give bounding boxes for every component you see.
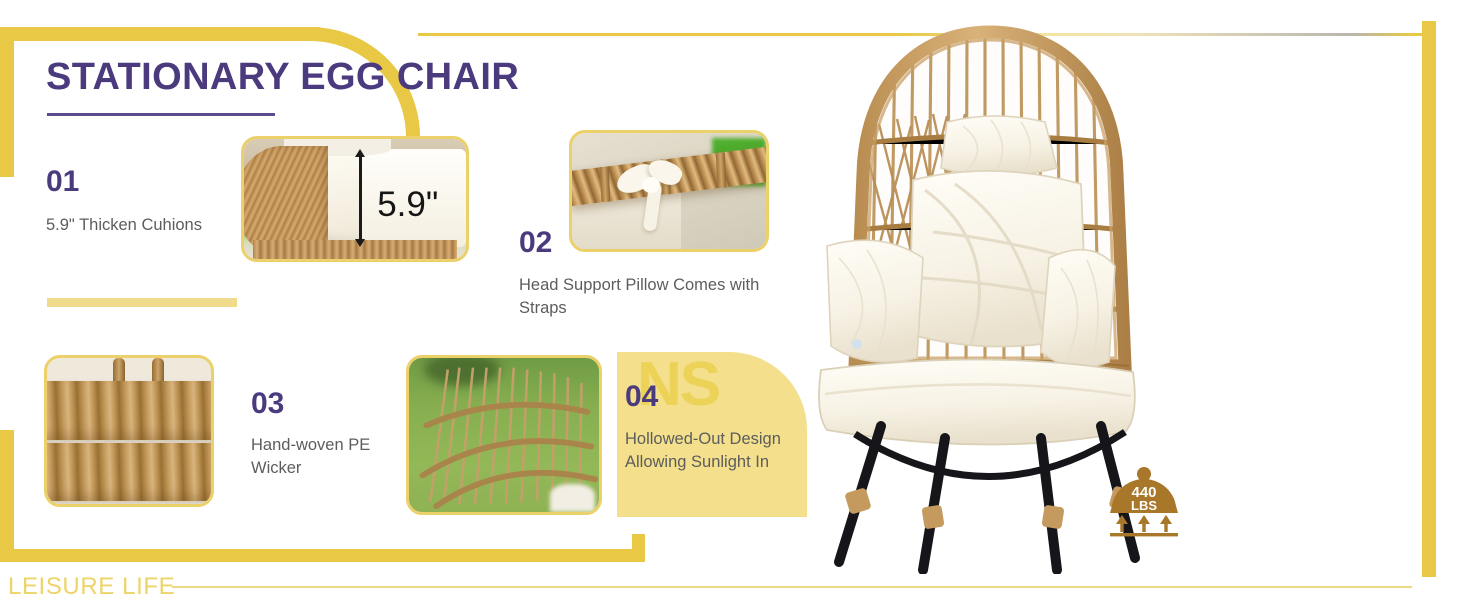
- badge-head-icon: [1137, 467, 1151, 481]
- thumbnail-cushion-thickness[interactable]: 5.9": [241, 136, 469, 262]
- thumbnail-pillow-strap[interactable]: [569, 130, 769, 252]
- dimension-label: 5.9": [377, 187, 438, 222]
- leg-rattan-wraps: [844, 485, 1135, 529]
- frame-top-bar: [0, 27, 320, 41]
- dimension-arrow-icon: [359, 156, 362, 240]
- infographic-canvas: STATIONARY EGG CHAIR 01 5.9" Thicken Cuh…: [0, 0, 1464, 600]
- weight-capacity-badge: 440 LBS: [1098, 466, 1190, 538]
- feature-number-01: 01: [46, 167, 256, 197]
- seat-cushion: [819, 359, 1135, 444]
- feature-number-03: 03: [251, 389, 416, 419]
- thumbnail-pe-wicker[interactable]: [44, 355, 214, 507]
- section-divider-bar: [47, 298, 237, 307]
- thumbnail-hollowed-frame-image: [409, 358, 599, 512]
- page-title: STATIONARY EGG CHAIR: [46, 56, 519, 99]
- left-side-pillow: [827, 240, 923, 362]
- frame-bottom-bar: [0, 549, 645, 562]
- thumbnail-pe-wicker-image: [47, 358, 211, 504]
- feature-block-01: 01 5.9" Thicken Cuhions: [46, 167, 256, 237]
- strap-bow-detail: [630, 161, 694, 219]
- badge-baseline: [1110, 533, 1178, 536]
- badge-weight-unit: LBS: [1131, 498, 1157, 513]
- feature-number-04: 04: [625, 382, 800, 412]
- weight-capacity-icon: 440 LBS: [1098, 466, 1190, 538]
- thumbnail-hollowed-frame[interactable]: [406, 355, 602, 515]
- feature-text-04: Hollowed-Out Design Allowing Sunlight In: [625, 428, 800, 475]
- feature-block-03: 03 Hand-woven PE Wicker: [251, 389, 416, 481]
- footer-rule: [172, 586, 1412, 588]
- frame-left-bar: [0, 27, 14, 177]
- title-underline: [47, 113, 275, 116]
- frame-bottom-tick: [632, 534, 645, 562]
- pillow-tag: [852, 339, 862, 349]
- feature-block-04: 04 Hollowed-Out Design Allowing Sunlight…: [625, 382, 800, 475]
- frame-right-bar: [1422, 21, 1436, 577]
- feature-text-02: Head Support Pillow Comes with Straps: [519, 274, 789, 321]
- feature-text-01: 5.9" Thicken Cuhions: [46, 214, 256, 237]
- feature-text-03: Hand-woven PE Wicker: [251, 434, 416, 481]
- thumbnail-cushion-thickness-image: 5.9": [244, 139, 466, 259]
- thumbnail-pillow-strap-image: [572, 133, 766, 249]
- brand-footer-text: LEISURE LIFE: [8, 573, 175, 600]
- frame-left-lower-bar: [0, 430, 14, 562]
